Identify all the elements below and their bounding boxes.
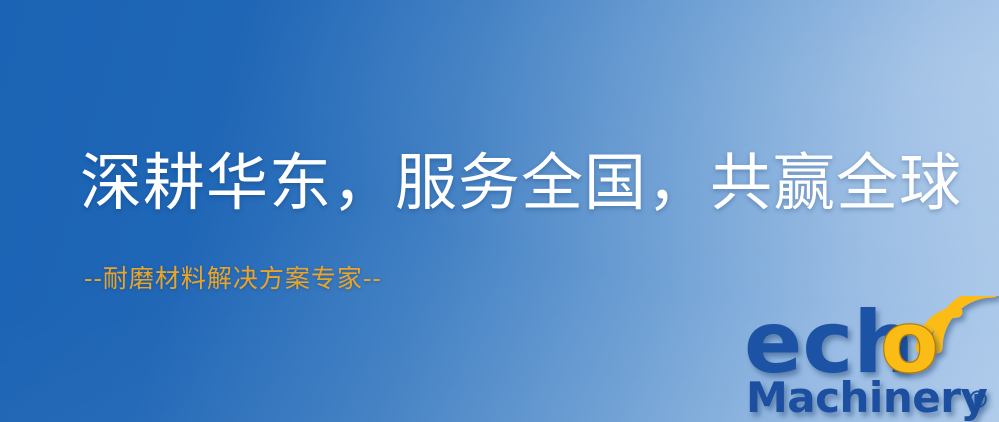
logo-graphic: ech o Machinery ® (744, 296, 999, 422)
echo-machinery-logo: ech o Machinery ® (744, 296, 999, 422)
logo-subtext: Machinery (746, 373, 987, 422)
promo-banner: 深耕华东，服务全国，共赢全球 --耐磨材料解决方案专家-- ech o Mach… (0, 0, 999, 422)
logo-registered-mark: ® (966, 386, 990, 414)
banner-subtitle: --耐磨材料解决方案专家-- (84, 266, 382, 291)
banner-headline: 深耕华东，服务全国，共赢全球 (80, 152, 962, 214)
